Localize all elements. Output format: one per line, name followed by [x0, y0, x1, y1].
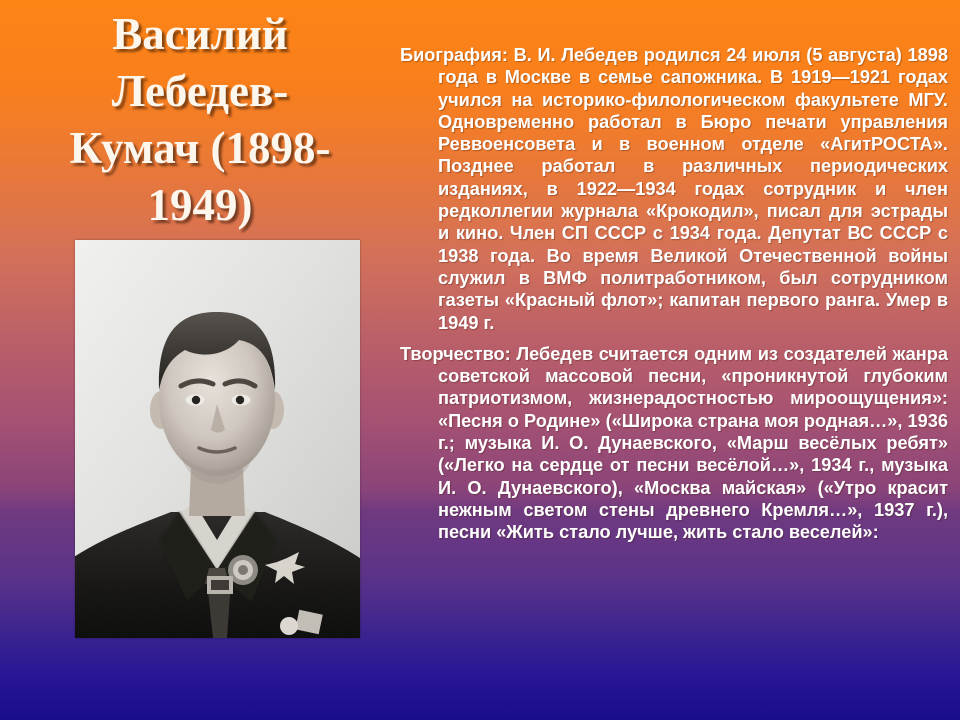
portrait-photo: [75, 240, 360, 638]
paragraph-creative-work: Творчество: Лебедев считается одним из с…: [400, 343, 948, 544]
paragraph-biography: Биография: В. И. Лебедев родился 24 июля…: [400, 44, 948, 334]
portrait-image: [75, 240, 360, 638]
page-title: Василий Лебедев- Кумач (1898- 1949): [14, 6, 386, 234]
presentation-slide: Василий Лебедев- Кумач (1898- 1949): [0, 0, 960, 720]
slide-title-block: Василий Лебедев- Кумач (1898- 1949): [14, 6, 386, 234]
slide-body-text: Биография: В. И. Лебедев родился 24 июля…: [400, 44, 948, 544]
